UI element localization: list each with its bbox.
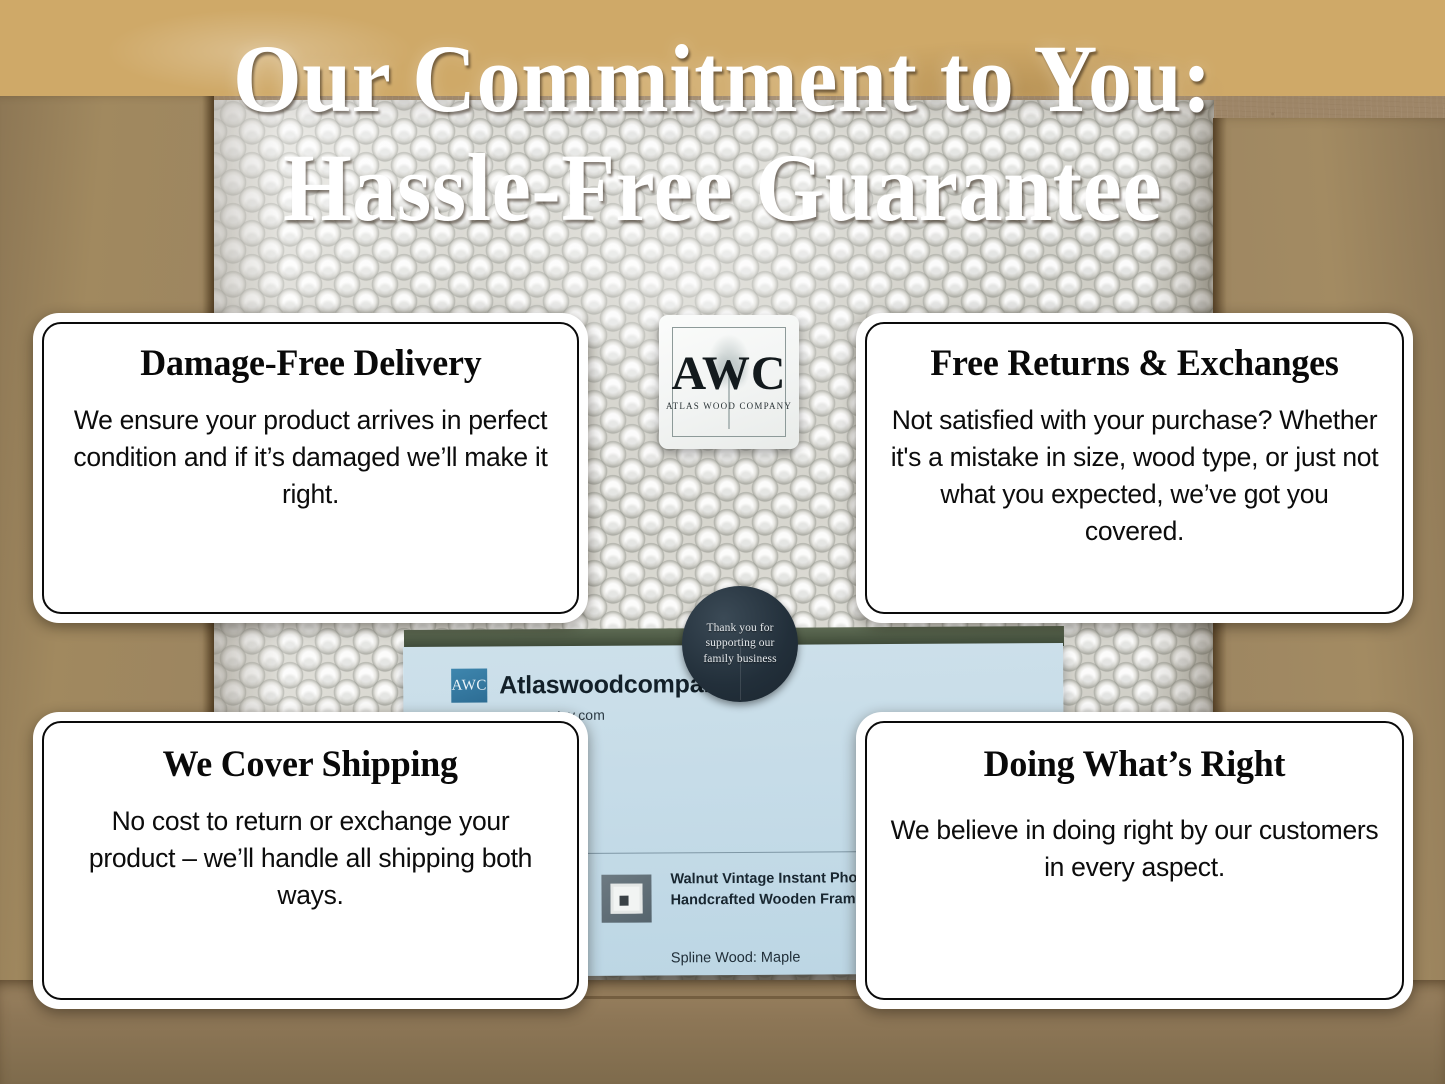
card-body: We believe in doing right by our custome… (889, 812, 1380, 886)
card-title: We Cover Shipping (163, 745, 458, 786)
awc-logo-sticker: AWC ATLAS WOOD COMPANY (659, 315, 799, 449)
card-title: Free Returns & Exchanges (930, 344, 1338, 385)
guarantee-infographic: AWC AtlaswoodcompanyUS panyus.etsy.com m… (0, 0, 1445, 1084)
card-body: Not satisfied with your purchase? Whethe… (889, 402, 1380, 550)
card-inner: We Cover Shipping No cost to return or e… (42, 721, 579, 1000)
card-title: Doing What’s Right (984, 745, 1286, 786)
card-body: We ensure your product arrives in perfec… (66, 402, 555, 513)
logo-subtitle: ATLAS WOOD COMPANY (659, 401, 799, 411)
thank-you-sticker: Thank you for supporting our family busi… (682, 586, 798, 702)
card-we-cover-shipping: We Cover Shipping No cost to return or e… (33, 712, 588, 1009)
card-body: No cost to return or exchange your produ… (66, 803, 555, 914)
card-free-returns-exchanges: Free Returns & Exchanges Not satisfied w… (856, 313, 1413, 623)
card-damage-free-delivery: Damage-Free Delivery We ensure your prod… (33, 313, 588, 623)
card-inner: Free Returns & Exchanges Not satisfied w… (865, 322, 1404, 614)
item-thumbnail (601, 875, 651, 923)
card-doing-whats-right: Doing What’s Right We believe in doing r… (856, 712, 1413, 1009)
thank-you-sticker-text: Thank you for supporting our family busi… (682, 621, 798, 668)
card-inner: Damage-Free Delivery We ensure your prod… (42, 322, 579, 614)
card-inner: Doing What’s Right We believe in doing r… (865, 721, 1404, 1000)
logo-initials: AWC (659, 350, 799, 398)
item-spec-spline: Spline Wood: Maple (671, 950, 801, 967)
awc-badge-icon: AWC (451, 669, 487, 703)
card-title: Damage-Free Delivery (140, 344, 481, 385)
